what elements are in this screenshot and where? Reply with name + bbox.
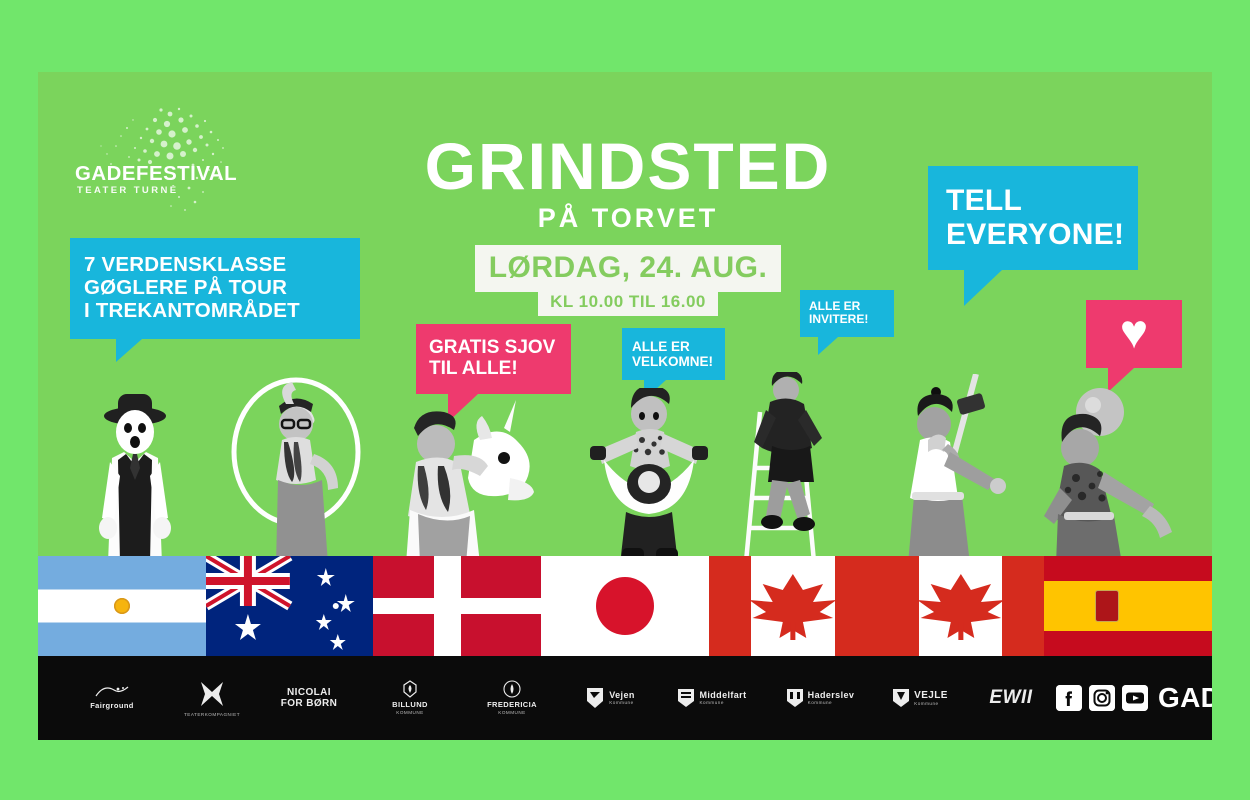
vejle-crest-icon xyxy=(892,688,910,708)
sponsor-name: Haderslev xyxy=(808,690,855,700)
flag-japan xyxy=(541,556,709,656)
performers-row xyxy=(38,372,1212,564)
ladder-balancer-performer xyxy=(738,372,858,564)
sponsor-ewii[interactable]: EWII xyxy=(966,687,1056,709)
mime-chaplin-performer xyxy=(80,388,190,564)
sponsor-name: Middelfart xyxy=(699,690,746,700)
sponsor-name: BILLUND xyxy=(392,701,428,710)
page-title: GRINDSTED xyxy=(383,134,873,199)
haderslev-crest-icon xyxy=(786,688,804,708)
bubble-line: TELL xyxy=(946,184,1124,218)
sponsor-vejle[interactable]: VEJLE Kommune xyxy=(874,688,966,708)
sponsor-fredericia[interactable]: FREDERICIA KOMMUNE xyxy=(462,680,562,715)
bubble-tail xyxy=(964,270,1002,306)
sponsor-subtitle: Kommune xyxy=(914,701,938,707)
sponsor-subtitle: FOR BØRN xyxy=(281,698,338,710)
bubble-line: EVERYONE! xyxy=(946,218,1124,252)
fairground-mark-icon xyxy=(92,685,132,699)
bubble-line: ALLE ER xyxy=(632,339,717,354)
headline-date: LØRDAG, 24. AUG. xyxy=(475,245,782,292)
youtube-icon[interactable] xyxy=(1122,685,1148,711)
hula-hoop-performer xyxy=(218,374,368,564)
logo-subtitle: TEATER TURNÉ xyxy=(77,186,245,196)
headline-time: KL 10.00 TIL 16.00 xyxy=(538,288,718,316)
sponsor-billund[interactable]: BILLUND KOMMUNE xyxy=(358,680,462,715)
sponsor-name: EWII xyxy=(989,687,1032,709)
sponsor-middelfart[interactable]: Middelfart Kommune xyxy=(658,688,766,708)
social-links: GADEFESTIVAL .com xyxy=(1056,682,1212,714)
flag-canada xyxy=(877,556,1045,656)
bubble-line: 7 VERDENSKLASSE xyxy=(84,254,350,277)
gadefestival-logo[interactable]: GADEFESTIVAL TEATER TURNÉ xyxy=(71,102,246,217)
headline-place: PÅ TORVET xyxy=(383,203,873,234)
sponsor-name: Vejen xyxy=(609,690,635,700)
sponsor-subtitle: Kommune xyxy=(609,700,633,706)
poster-stage: GADEFESTIVAL TEATER TURNÉ GRINDSTED PÅ T… xyxy=(0,0,1250,800)
speech-bubble-heart: ♥ xyxy=(1086,300,1182,368)
sponsor-name: FREDERICIA xyxy=(487,701,537,710)
sun-of-may-icon xyxy=(114,598,130,614)
bubble-tail xyxy=(116,339,142,362)
bubble-line: INVITERE! xyxy=(809,313,887,326)
hinomaru-icon xyxy=(596,577,654,635)
x-mark-icon xyxy=(197,679,227,709)
sponsor-fairground[interactable]: Fairground xyxy=(60,685,164,711)
sponsor-teaterkompagniet[interactable]: TEATERKOMPAGNIET xyxy=(164,679,260,718)
billund-crest-icon xyxy=(402,680,418,698)
sponsor-subtitle: TEATERKOMPAGNIET xyxy=(184,712,240,718)
bubble-line: VELKOMNE! xyxy=(632,354,717,369)
coat-of-arms-icon xyxy=(1095,590,1119,622)
ball-contact-juggler-performer xyxy=(1038,386,1190,564)
sponsor-name: VEJLE xyxy=(914,690,948,702)
bubble-line: ALLE ER xyxy=(809,300,887,313)
sponsor-subtitle: KOMMUNE xyxy=(396,710,424,716)
flag-denmark xyxy=(373,556,541,656)
sponsor-subtitle: Kommune xyxy=(808,700,832,706)
bubble-tail xyxy=(818,337,838,355)
heart-icon: ♥ xyxy=(1096,314,1172,352)
social-brand: GADEFESTIVAL xyxy=(1158,682,1212,714)
vejen-crest-icon xyxy=(585,687,605,709)
splatter-graphic xyxy=(71,102,246,217)
bubble-line: GRATIS SJOV xyxy=(429,337,561,358)
bubble-line: GØGLERE PÅ TOUR xyxy=(84,277,350,300)
sponsor-name: NICOLAI xyxy=(287,687,331,699)
instagram-icon[interactable] xyxy=(1089,685,1115,711)
sponsor-nicolai-for-born[interactable]: NICOLAI FOR BØRN xyxy=(260,687,358,710)
headline-block: GRINDSTED PÅ TORVET LØRDAG, 24. AUG. KL … xyxy=(383,134,873,316)
sponsor-haderslev[interactable]: Haderslev Kommune xyxy=(766,688,874,708)
sponsor-vejen[interactable]: Vejen Kommune xyxy=(562,687,658,709)
sponsor-name: Fairground xyxy=(90,702,134,711)
fredericia-crest-icon xyxy=(503,680,521,698)
flag-argentina xyxy=(38,556,206,656)
sponsor-subtitle: Kommune xyxy=(699,700,723,706)
speech-bubble-tell-everyone: TELL EVERYONE! xyxy=(928,166,1138,270)
flag-australia xyxy=(206,556,374,656)
skirt-dancer-performer xyxy=(574,388,724,564)
logo-wordmark: GADEFESTIVAL xyxy=(75,164,246,184)
flag-canada xyxy=(709,556,877,656)
facebook-icon[interactable] xyxy=(1056,685,1082,711)
speech-bubble-verdensklasse: 7 VERDENSKLASSE GØGLERE PÅ TOUR I TREKAN… xyxy=(70,238,360,339)
flag-spain xyxy=(1044,556,1212,656)
sponsor-subtitle: KOMMUNE xyxy=(498,710,526,716)
bubble-line: I TREKANTOMRÅDET xyxy=(84,300,350,323)
pole-balancer-performer xyxy=(888,374,1018,564)
sponsor-bar: Fairground TEATERKOMPAGNIET NICOLAI FOR … xyxy=(38,656,1212,740)
speech-bubble-invitere: ALLE ER INVITERE! xyxy=(800,290,894,337)
middelfart-crest-icon xyxy=(677,688,695,708)
flag-strip xyxy=(38,556,1212,656)
unicorn-performer xyxy=(388,392,548,564)
poster-canvas: GADEFESTIVAL TEATER TURNÉ GRINDSTED PÅ T… xyxy=(38,72,1212,740)
